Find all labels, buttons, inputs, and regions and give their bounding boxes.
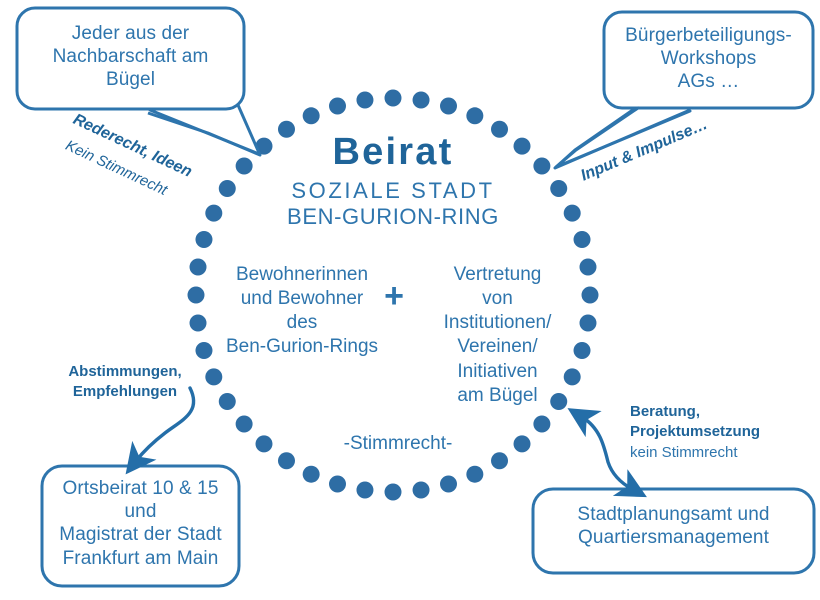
ring-dot — [356, 92, 373, 109]
ring-dot — [385, 484, 402, 501]
label-abstimmungen-empfehlungen: Abstimmungen, Empfehlungen — [50, 362, 200, 401]
subtitle-ben-gurion-ring: BEN-GURION-RING — [243, 206, 543, 228]
ring-dot — [195, 342, 212, 359]
label-kein-stimmrecht-right: kein Stimmrecht — [630, 443, 820, 463]
ring-dot — [195, 231, 212, 248]
diagram-canvas: Jeder aus der Nachbarschaft am Bügel Red… — [0, 0, 820, 600]
member-group-residents: Bewohnerinnen und Bewohner des Ben-Gurio… — [213, 263, 391, 360]
ring-dot — [190, 315, 207, 332]
ring-dot — [303, 107, 320, 124]
ring-dot — [579, 315, 596, 332]
ring-dot — [413, 92, 430, 109]
label-beratung-projektumsetzung: Beratung, Projektumsetzung — [630, 402, 820, 441]
voting-note: -Stimmrecht- — [313, 432, 483, 455]
ring-dot — [205, 205, 222, 222]
ring-dot — [564, 205, 581, 222]
ring-dot — [582, 287, 599, 304]
ring-dot — [440, 97, 457, 114]
box-ortsbeirat-text: Ortsbeirat 10 & 15 und Magistrat der Sta… — [44, 477, 237, 570]
bubble-neighbourhood-text: Jeder aus der Nachbarschaft am Bügel — [20, 22, 241, 92]
ring-dot — [574, 231, 591, 248]
ring-dot — [533, 416, 550, 433]
ring-dot — [303, 466, 320, 483]
ring-dot — [205, 368, 222, 385]
ring-dot — [440, 476, 457, 493]
ring-dot — [385, 90, 402, 107]
ring-dot — [278, 452, 295, 469]
ring-dot — [491, 452, 508, 469]
ring-dot — [466, 466, 483, 483]
ring-dot — [219, 180, 236, 197]
box-stadtplanungsamt-text: Stadtplanungsamt und Quartiersmanagement — [535, 503, 812, 549]
bubble-participation-text: Bürgerbeteiligungs- Workshops AGs … — [607, 24, 810, 94]
ring-dot — [188, 287, 205, 304]
ring-dot — [579, 258, 596, 275]
ring-dot — [466, 107, 483, 124]
subtitle-soziale-stadt: SOZIALE STADT — [243, 180, 543, 202]
ring-dot — [356, 481, 373, 498]
ring-dot — [514, 435, 531, 452]
ring-dot — [190, 258, 207, 275]
page-title: Beirat — [243, 133, 543, 171]
ring-dot — [329, 97, 346, 114]
ring-dot — [236, 416, 253, 433]
ring-dot — [219, 393, 236, 410]
member-group-institutions: Vertretung von Institutionen/ Vereinen/ … — [416, 263, 579, 408]
arrow-beratung — [582, 417, 632, 489]
ring-dot — [329, 476, 346, 493]
ring-dot — [255, 435, 272, 452]
plus-icon: + — [379, 279, 409, 313]
ring-dot — [413, 481, 430, 498]
ring-dot — [550, 180, 567, 197]
